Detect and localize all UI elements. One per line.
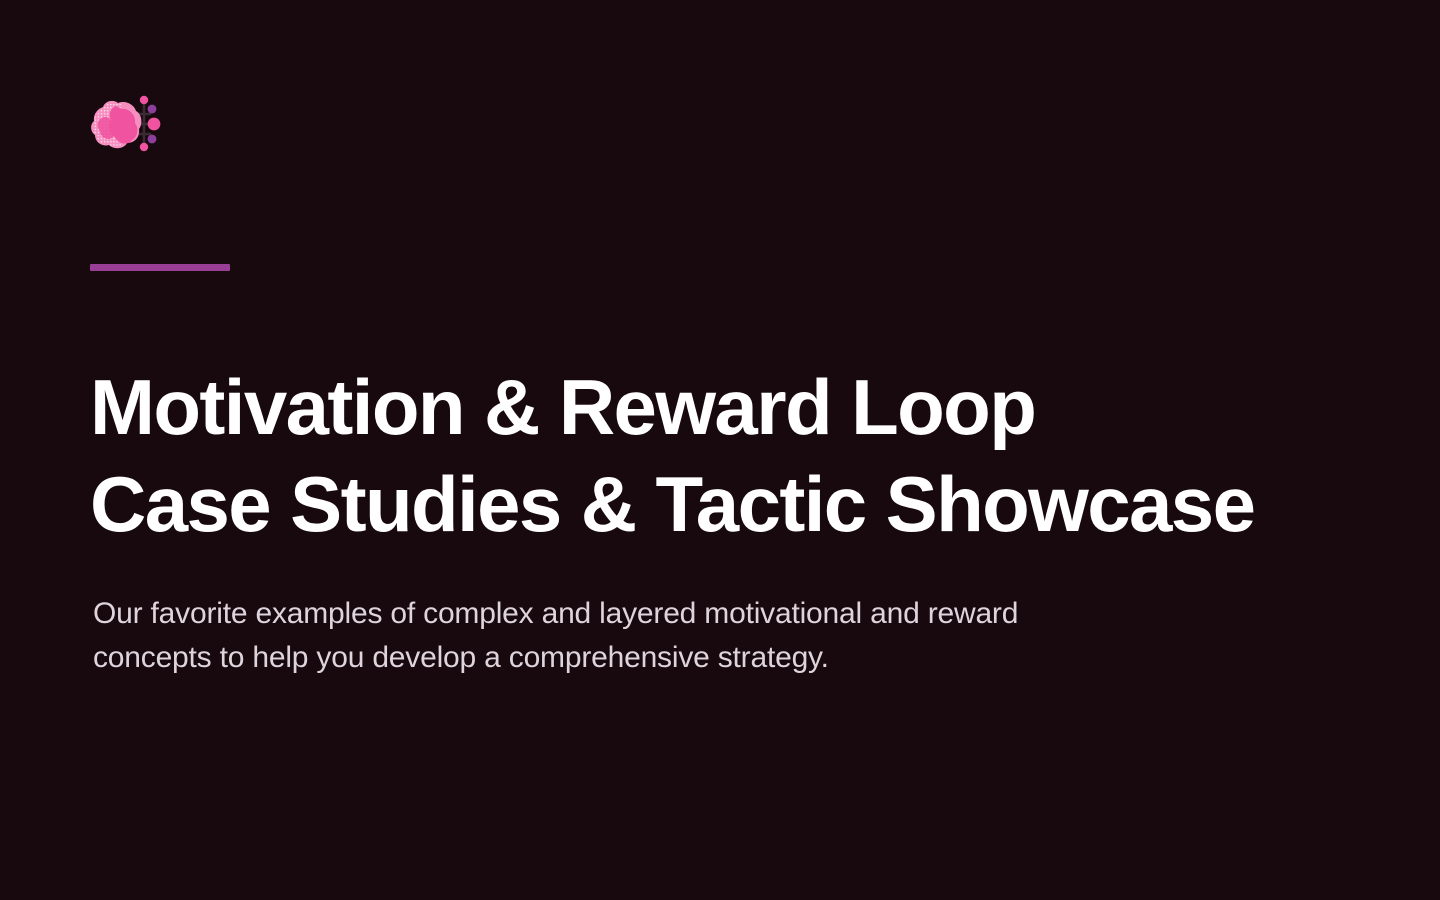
page-title: Motivation & Reward Loop Case Studies & … (90, 359, 1350, 553)
node-lower-right (148, 135, 157, 144)
node-top (140, 96, 148, 104)
slide-root: Motivation & Reward Loop Case Studies & … (0, 0, 1440, 900)
page-subtitle: Our favorite examples of complex and lay… (93, 592, 1203, 680)
accent-divider (90, 264, 230, 271)
node-upper-right (148, 105, 157, 114)
brain-network-icon (88, 88, 168, 156)
node-bottom (140, 143, 148, 151)
brand-logo (88, 88, 168, 156)
node-center-right (148, 118, 161, 131)
